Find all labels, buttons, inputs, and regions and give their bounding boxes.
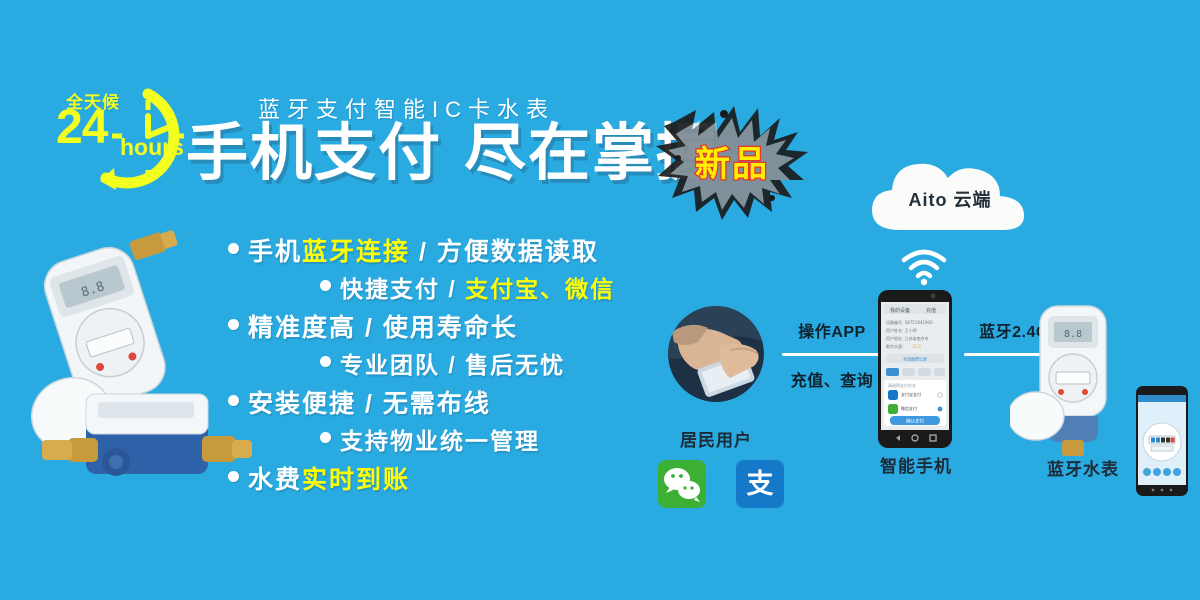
- svg-text:微信支付: 微信支付: [901, 405, 917, 411]
- alipay-icon[interactable]: 支: [736, 460, 784, 508]
- feature-plain-text: / 方便数据读取: [410, 238, 599, 266]
- cloud-node: Aito 云端: [860, 152, 1040, 244]
- feature-item-label: 快捷支付 / 支付宝、微信: [340, 270, 615, 304]
- resident-user-photo: [668, 306, 764, 402]
- svg-text:8.8: 8.8: [1064, 329, 1082, 340]
- smartphone-illustration: 我的设备 充值 设备编号: 58751841900 用户姓名: 王小明 用户地址…: [878, 290, 952, 448]
- svg-text:设备编号: 58751841900: 设备编号: 58751841900: [886, 319, 933, 325]
- badge-number: 24: [56, 104, 107, 152]
- new-product-label: 新品: [652, 136, 812, 187]
- link-app-line: [782, 353, 882, 356]
- banner-headline: 手机支付尽在掌握: [186, 118, 720, 189]
- svg-text:用户姓名: 王小明: 用户姓名: 王小明: [886, 327, 917, 333]
- feature-item: 专业团队 / 售后无忧: [228, 346, 698, 384]
- feature-plain-text: 安装便捷 / 无需布线: [248, 390, 491, 418]
- promo-banner: 全天候 24 hours 蓝牙支付智能IC卡水表 手机支付尽在掌握 新品 手机蓝…: [0, 0, 1200, 600]
- feature-item-label: 支持物业统一管理: [340, 422, 540, 456]
- link-app-bottom-label: 充值、查询: [778, 367, 886, 391]
- feature-item: 手机蓝牙连接 / 方便数据读取: [228, 232, 698, 270]
- badge-hours-text: hours: [120, 134, 184, 161]
- feature-plain-text: 支持物业统一管理: [340, 428, 540, 454]
- bluetooth-water-meter-photo: 8.8: [1010, 300, 1140, 465]
- feature-plain-text: 快捷支付 /: [340, 276, 465, 302]
- resident-user-label: 居民用户: [648, 426, 784, 451]
- new-product-badge: 新品: [652, 92, 812, 222]
- smartphone-label: 智能手机: [858, 452, 974, 477]
- feature-item-label: 安装便捷 / 无需布线: [248, 384, 491, 420]
- feature-list: 手机蓝牙连接 / 方便数据读取快捷支付 / 支付宝、微信精准度高 / 使用寿命长…: [228, 232, 698, 498]
- svg-text:请选择支付方式: 请选择支付方式: [888, 382, 916, 388]
- cloud-label: Aito 云端: [860, 186, 1040, 212]
- feature-highlight-text: 支付宝、微信: [465, 276, 615, 302]
- meter-app-phone: [1136, 386, 1188, 496]
- feature-plain-text: 专业团队 / 售后无忧: [340, 352, 565, 378]
- bullet-dot-icon: [320, 280, 331, 291]
- feature-item-label: 水费实时到账: [248, 460, 410, 496]
- feature-highlight-text: 实时到账: [302, 466, 410, 494]
- svg-text:我的设备: 我的设备: [890, 307, 910, 314]
- svg-text:确认支付: 确认支付: [906, 418, 924, 425]
- svg-text:剩余水量:: 剩余水量:: [886, 343, 903, 349]
- feature-item-label: 手机蓝牙连接 / 方便数据读取: [248, 232, 599, 268]
- water-meter-products-photo: 8.8: [8, 228, 258, 518]
- feature-item: 快捷支付 / 支付宝、微信: [228, 270, 698, 308]
- feature-item: 安装便捷 / 无需布线: [228, 384, 698, 422]
- bullet-dot-icon: [320, 432, 331, 443]
- 24-hours-badge: 全天候 24 hours: [48, 82, 208, 192]
- wifi-icon: [900, 248, 948, 288]
- feature-item: 支持物业统一管理: [228, 422, 698, 460]
- feature-highlight-text: 蓝牙连接: [302, 238, 410, 266]
- feature-plain-text: 精准度高 / 使用寿命长: [248, 314, 518, 342]
- svg-text:充值缴费记录: 充值缴费记录: [903, 356, 927, 362]
- feature-item: 精准度高 / 使用寿命长: [228, 308, 698, 346]
- svg-text:充值: 充值: [926, 307, 936, 314]
- svg-text:支付宝支付: 支付宝支付: [901, 391, 921, 397]
- svg-text:支: 支: [747, 469, 774, 500]
- bluetooth-water-meter-label: 蓝牙水表: [1018, 455, 1148, 480]
- link-app-top-label: 操作APP: [778, 318, 886, 342]
- headline-part-1: 手机支付: [186, 119, 442, 188]
- payment-icons: 支: [658, 460, 810, 508]
- feature-item-label: 专业团队 / 售后无忧: [340, 346, 565, 380]
- link-operate-app: 操作APP 充值、查询: [778, 318, 886, 391]
- svg-text:用户地址: 江苏省南京市: 用户地址: 江苏省南京市: [886, 335, 929, 341]
- wechat-pay-icon[interactable]: [658, 460, 706, 508]
- feature-item: 水费实时到账: [228, 460, 698, 498]
- svg-text:12.5: 12.5: [912, 344, 921, 349]
- feature-item-label: 精准度高 / 使用寿命长: [248, 308, 518, 344]
- bullet-dot-icon: [320, 356, 331, 367]
